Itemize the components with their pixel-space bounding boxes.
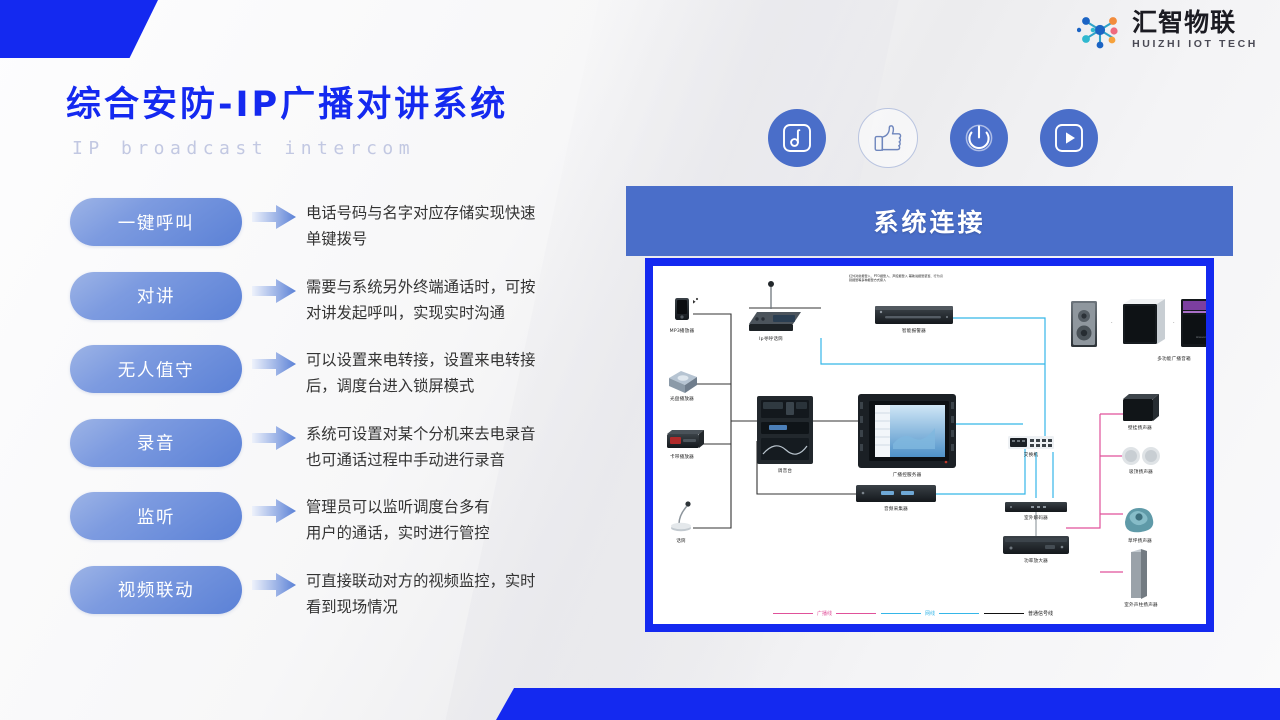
feature-desc-3: 系统可设置对某个分机来去电录音 也可通话过程中手动进行录音	[306, 419, 630, 473]
feature-pill-0[interactable]: 一键呼叫	[70, 198, 242, 246]
diagram-legend: 广播线 网线 普通信号线	[773, 610, 1053, 617]
system-topology-diagram: · · Hiwoon	[653, 266, 1206, 624]
device-label-cassette-player: 卡带播放器	[670, 454, 694, 460]
alarm-input-note: 红外对射报警入、PTO报警入、声控报警入 辅助说报警装置、行为识别报警等多种报警…	[849, 274, 945, 283]
panel-header: 系统连接	[626, 186, 1233, 256]
device-label-outdoor-column-speaker: 室外声柱扬声器	[1124, 602, 1158, 608]
feature-desc-line: 需要与系统另外终端通话时，可按	[306, 274, 630, 300]
feature-desc-line: 用户的通话，实时进行管控	[306, 520, 630, 546]
feature-pill-5[interactable]: 视频联动	[70, 566, 242, 614]
legend-swatch-black	[984, 613, 1024, 614]
legend-item-broadcast-line: 广播线	[773, 610, 876, 617]
feature-desc-line: 对讲发起呼叫，实现实时沟通	[306, 300, 630, 326]
system-connection-panel: 系统连接	[626, 186, 1233, 644]
device-label-cd-player: 光盘播放器	[670, 396, 694, 402]
feature-desc-line: 可以设置来电转接，设置来电转接	[306, 347, 630, 373]
feature-pill-3[interactable]: 录音	[70, 419, 242, 467]
device-label-paging-mic: Ip寻呼话筒	[759, 336, 783, 342]
legend-label-broadcast-line: 广播线	[817, 610, 832, 617]
device-label-multifunction-speaker: 多功能广播音箱	[1157, 356, 1191, 362]
feature-desc-1: 需要与系统另外终端通话时，可按 对讲发起呼叫，实现实时沟通	[306, 272, 630, 326]
feature-row: 无人值守 可以设置来电转接，设置来电转接 后，调度台进入锁屏模式	[70, 345, 630, 398]
panel-title: 系统连接	[873, 203, 985, 239]
arrow-right-icon	[252, 419, 296, 451]
arrow-right-icon	[252, 492, 296, 524]
feature-row: 一键呼叫 电话号码与名字对应存储实现快速 单键拨号	[70, 198, 630, 251]
brand-logo: 汇智物联 HUIZHI IOT TECH	[1077, 10, 1258, 50]
device-label-lawn-speaker: 草坪扬声器	[1128, 538, 1152, 544]
feature-pill-label: 无人值守	[118, 357, 194, 382]
device-label-outdoor-decoder: 室外解码器	[1024, 515, 1048, 521]
legend-item-network-line: 网线	[881, 610, 979, 617]
slide-canvas: 汇智物联 HUIZHI IOT TECH 综合安防-IP广播对讲系统 IP br…	[0, 0, 1280, 720]
device-label-ceiling-speaker: 吸顶扬声器	[1129, 469, 1153, 475]
feature-pill-label: 视频联动	[118, 577, 194, 602]
feature-desc-line: 看到现场情况	[306, 594, 630, 620]
device-label-power-amplifier: 功率放大器	[1024, 558, 1048, 564]
feature-icon-row	[768, 108, 1098, 168]
thumbs-up-icon[interactable]	[858, 108, 918, 168]
svg-text:Hiwoon: Hiwoon	[1196, 335, 1206, 339]
logo-text-cn: 汇智物联	[1132, 10, 1236, 35]
svg-text:·: ·	[1173, 320, 1175, 326]
svg-text:·: ·	[1111, 320, 1113, 326]
feature-desc-line: 单键拨号	[306, 226, 630, 252]
feature-row: 监听 管理员可以监听调度台多有 用户的通话，实时进行管控	[70, 492, 630, 545]
feature-desc-line: 管理员可以监听调度台多有	[306, 494, 630, 520]
arrow-right-icon	[252, 345, 296, 377]
arrow-right-icon	[252, 272, 296, 304]
legend-swatch-cyan-2	[939, 613, 979, 614]
feature-list: 一键呼叫 电话号码与名字对应存储实现快速 单键拨号 对讲	[70, 198, 630, 639]
feature-pill-2[interactable]: 无人值守	[70, 345, 242, 393]
molecule-logo-icon	[1077, 10, 1123, 50]
legend-item-signal-line: 普通信号线	[984, 610, 1053, 617]
music-note-icon[interactable]	[768, 109, 826, 167]
device-label-mp3-player: MP3播放器	[670, 328, 695, 334]
feature-desc-4: 管理员可以监听调度台多有 用户的通话，实时进行管控	[306, 492, 630, 546]
feature-desc-line: 电话号码与名字对应存储实现快速	[306, 200, 630, 226]
page-title: 综合安防-IP广播对讲系统	[66, 76, 508, 127]
arrow-right-icon	[252, 566, 296, 598]
feature-pill-label: 录音	[137, 430, 175, 455]
legend-label-network-line: 网线	[925, 610, 935, 617]
feature-desc-line: 也可通话过程中手动进行录音	[306, 447, 630, 473]
legend-label-signal-line: 普通信号线	[1028, 610, 1053, 617]
logo-text-en: HUIZHI IOT TECH	[1132, 39, 1258, 50]
feature-desc-5: 可直接联动对方的视频监控，实时 看到现场情况	[306, 566, 630, 620]
play-icon[interactable]	[1040, 109, 1098, 167]
feature-pill-label: 一键呼叫	[118, 210, 194, 235]
device-label-alarm-unit: 智能报警器	[902, 328, 926, 334]
feature-row: 对讲 需要与系统另外终端通话时，可按 对讲发起呼叫，实现实时沟通	[70, 272, 630, 325]
feature-pill-label: 对讲	[137, 283, 175, 308]
legend-swatch-pink	[773, 613, 813, 614]
feature-pill-label: 监听	[137, 504, 175, 529]
feature-pill-1[interactable]: 对讲	[70, 272, 242, 320]
legend-swatch-pink-2	[836, 613, 876, 614]
corner-accent-bottom-right	[496, 688, 1280, 720]
feature-desc-2: 可以设置来电转接，设置来电转接 后，调度台进入锁屏模式	[306, 345, 630, 399]
feature-desc-line: 系统可设置对某个分机来去电录音	[306, 421, 630, 447]
power-icon[interactable]	[950, 109, 1008, 167]
device-label-wall-speaker: 壁挂扬声器	[1128, 425, 1152, 431]
feature-desc-line: 后，调度台进入锁屏模式	[306, 373, 630, 399]
panel-body: · · Hiwoon	[645, 258, 1214, 632]
device-label-switch: 交换机	[1024, 452, 1038, 458]
feature-row: 视频联动 可直接联动对方的视频监控，实时 看到现场情况	[70, 566, 630, 619]
feature-desc-0: 电话号码与名字对应存储实现快速 单键拨号	[306, 198, 630, 252]
feature-row: 录音 系统可设置对某个分机来去电录音 也可通话过程中手动进行录音	[70, 419, 630, 472]
arrow-right-icon	[252, 198, 296, 230]
device-label-microphone: 话筒	[676, 538, 686, 544]
legend-swatch-cyan	[881, 613, 921, 614]
feature-pill-4[interactable]: 监听	[70, 492, 242, 540]
device-label-broadcast-server: 广播控服务器	[893, 472, 922, 478]
device-label-audio-collector: 音频采集器	[884, 506, 908, 512]
page-subtitle: IP broadcast intercom	[72, 138, 415, 159]
device-label-mixer: 调音台	[778, 468, 792, 474]
feature-desc-line: 可直接联动对方的视频监控，实时	[306, 568, 630, 594]
